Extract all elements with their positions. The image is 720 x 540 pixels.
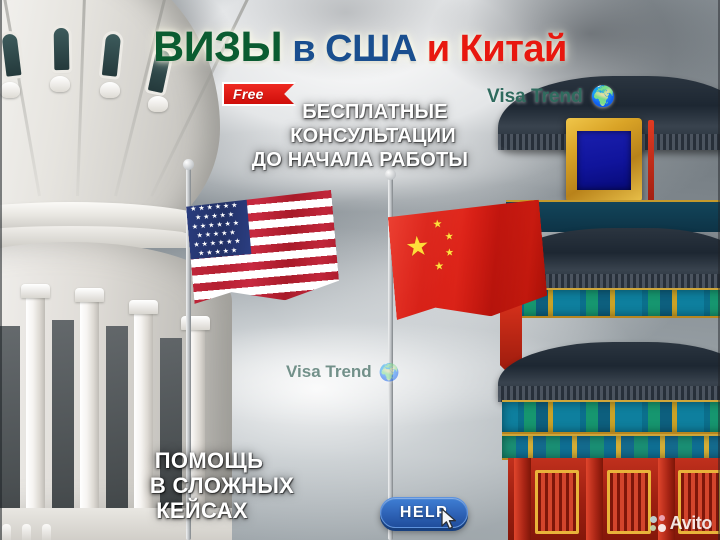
avito-watermark: Avito (650, 513, 712, 534)
bottom-line-2: В СЛОЖНЫХ (0, 473, 470, 498)
center-watermark-label: Visa Trend (286, 362, 372, 382)
bottom-line-1: ПОМОЩЬ (0, 448, 470, 473)
headline: ВИЗЫ в США и Китай (0, 23, 720, 72)
promo-line-2: КОНСУЛЬТАЦИИ (0, 124, 720, 148)
visa-ad-banner: ★ ★ ★ ★ ★ ★ ★ ★ ★ ★ ★ ★ ★ ★ ★ ★ ★ ★ ★ ★ … (0, 0, 720, 540)
mouse-cursor-icon (441, 508, 459, 532)
temple-painted-band-middle (502, 400, 720, 434)
headline-part-green: ВИЗЫ (153, 23, 282, 71)
promo-line-3: ДО НАЧАЛА РАБОТЫ (0, 148, 720, 172)
globe-icon: 🌍 (591, 87, 616, 107)
headline-part-red: и Китай (427, 28, 567, 70)
temple-eave-lower (498, 342, 720, 402)
avito-watermark-label: Avito (670, 513, 712, 534)
brand-logo: Visa Trend 🌍 (487, 86, 616, 108)
avito-dots-icon (650, 515, 667, 532)
brand-logo-label: Visa Trend (487, 86, 583, 108)
globe-icon: 🌍 (379, 364, 400, 381)
temple-painted-band-lower (502, 434, 720, 460)
left-edge (0, 0, 2, 540)
china-flag: ★ ★ ★ ★ ★ (387, 200, 548, 325)
headline-part-blue: в США (282, 28, 427, 70)
promo-text-block: БЕСПЛАТНЫЕ КОНСУЛЬТАЦИИ ДО НАЧАЛА РАБОТЫ (0, 100, 720, 172)
usa-flag: ★ ★ ★ ★ ★ ★ ★ ★ ★ ★ ★ ★ ★ ★ ★ ★ ★ ★ ★ ★ … (186, 190, 341, 308)
center-watermark: Visa Trend 🌍 (286, 362, 400, 382)
